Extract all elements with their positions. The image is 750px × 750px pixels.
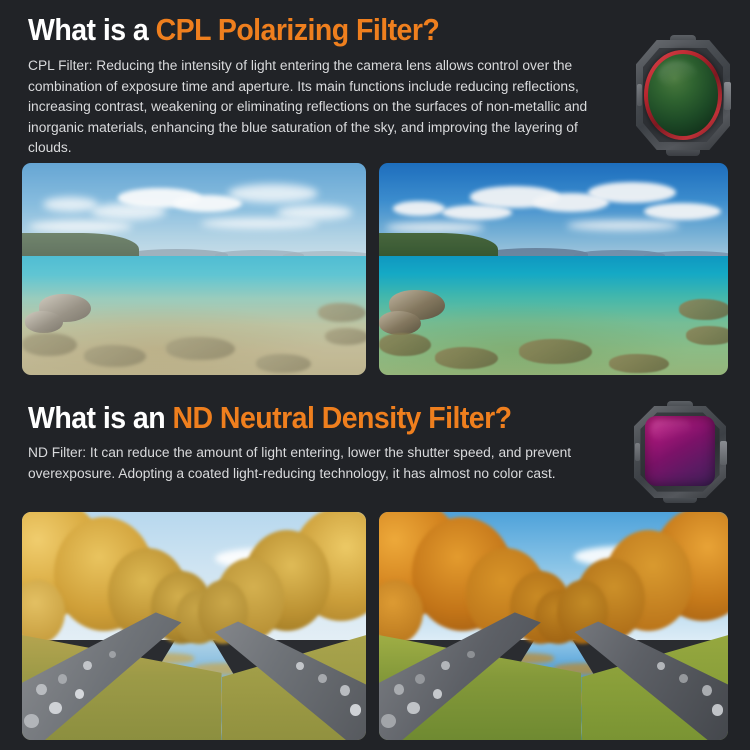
nd-heading: What is an ND Neutral Density Filter? xyxy=(28,400,512,436)
nd-filter-side-label-right xyxy=(720,441,726,465)
cpl-filter-side-label-right xyxy=(724,82,731,111)
cpl-filter-side-label-left xyxy=(637,84,642,106)
cpl-heading: What is a CPL Polarizing Filter? xyxy=(28,12,439,48)
nd-heading-orange: ND Neutral Density Filter? xyxy=(172,400,511,435)
cpl-filter-glass xyxy=(648,54,717,135)
cpl-filter-glass-highlight xyxy=(658,61,697,89)
cpl-paragraph: CPL Filter: Reducing the intensity of li… xyxy=(28,56,610,159)
cpl-filter-red-ring xyxy=(644,50,721,140)
canal-photo-without-nd xyxy=(22,512,366,740)
nd-paragraph: ND Filter: It can reduce the amount of l… xyxy=(28,443,610,484)
beach-photo-without-cpl xyxy=(22,163,366,375)
canal-photo-with-nd xyxy=(379,512,728,740)
nd-filter-product xyxy=(634,406,726,498)
nd-filter-glass xyxy=(645,416,715,486)
cpl-heading-orange: CPL Polarizing Filter? xyxy=(156,12,440,47)
saturation-overlay xyxy=(379,163,728,375)
cpl-filter-product xyxy=(636,40,730,150)
beach-photo-with-cpl xyxy=(379,163,728,375)
product-infographic: What is a CPL Polarizing Filter? CPL Fil… xyxy=(0,0,750,750)
haze-overlay xyxy=(22,163,366,375)
nd-heading-white: What is an xyxy=(28,400,172,435)
nd-filter-side-label-left xyxy=(635,443,640,461)
nd-filter-glass-highlight xyxy=(651,420,692,440)
cpl-heading-white: What is a xyxy=(28,12,156,47)
